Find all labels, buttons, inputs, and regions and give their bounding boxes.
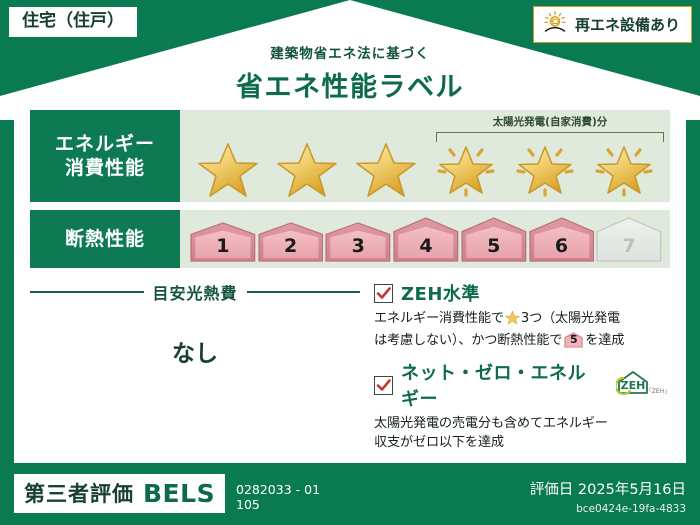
evaluation-id: bce0424e-19fa-4833: [576, 503, 686, 515]
star-6-solar: [585, 138, 664, 198]
zeh-house-logo-icon: ZEH 「ZEH」: [616, 370, 670, 400]
grade-number-5: 5: [461, 235, 527, 257]
sun-icon: [542, 11, 568, 37]
svg-text:「ZEH」: 「ZEH」: [646, 388, 670, 395]
star-rating: [188, 138, 664, 198]
utility-cost-value: なし: [30, 334, 360, 368]
insulation-grade-scale: 1 2: [190, 217, 662, 262]
bels-number: 0282033 - 01 105: [236, 482, 320, 513]
inline-grade-number: 5: [564, 332, 583, 348]
grade-badge-3: 3: [325, 222, 391, 262]
page-title: 建築物省エネ法に基づく 省エネ性能ラベル: [0, 42, 700, 104]
net-zero-desc-b: 収支がゼロ以下を達成: [374, 435, 504, 450]
bels-number-line2: 105: [236, 497, 320, 513]
energy-performance-label: エネルギー 消費性能: [30, 110, 180, 202]
grade-number-1: 1: [190, 235, 256, 257]
energy-performance-body: 太陽光発電(自家消費)分: [180, 110, 670, 202]
inline-star-icon: [505, 310, 520, 332]
zeh-standard-title: ZEH水準: [401, 280, 480, 306]
rule-left: [30, 291, 144, 293]
insulation-label-text: 断熱性能: [65, 227, 145, 251]
bels-plate: 第三者評価 BELS: [14, 474, 225, 513]
net-zero-head: ネット・ゼロ・エネルギー ZEH 「ZEH」: [374, 359, 670, 411]
zeh-desc-part-b: は考慮しない）、かつ断熱性能で: [374, 333, 562, 348]
svg-text:ZEH: ZEH: [621, 379, 646, 392]
zeh-standard-item: ZEH水準 エネルギー消費性能で 3つ（太陽光発電は考慮しない）、かつ断熱性能で…: [374, 280, 670, 350]
grade-badge-1: 1: [190, 222, 256, 262]
star-1: [188, 138, 267, 198]
grade-number-3: 3: [325, 235, 391, 257]
zeh-desc-star-text: 3つ（太陽光発電: [521, 311, 620, 326]
star-2: [267, 138, 346, 198]
insulation-performance-row: 断熱性能: [30, 210, 670, 268]
insulation-performance-body: 1 2: [180, 210, 670, 268]
checkmark-icon: [374, 284, 393, 303]
grade-number-4: 4: [393, 235, 459, 257]
insulation-performance-label: 断熱性能: [30, 210, 180, 268]
criteria-section: ZEH水準 エネルギー消費性能で 3つ（太陽光発電は考慮しない）、かつ断熱性能で…: [360, 276, 670, 455]
rule-right: [247, 291, 361, 293]
utility-cost-heading: 目安光熱費: [30, 280, 360, 304]
net-zero-description: 太陽光発電の売電分も含めてエネルギー収支がゼロ以下を達成: [374, 415, 670, 452]
bels-number-line1: 0282033 - 01: [236, 482, 320, 498]
housing-type-badge: 住宅（住戸）: [8, 6, 138, 38]
energy-label-line2: 消費性能: [65, 156, 145, 180]
zeh-desc-part-c: を達成: [585, 333, 624, 348]
zeh-standard-description: エネルギー消費性能で 3つ（太陽光発電は考慮しない）、かつ断熱性能で 5を達成: [374, 310, 670, 350]
net-zero-energy-item: ネット・ゼロ・エネルギー ZEH 「ZEH」 太陽光発電の売電分も含めてエネルギ…: [374, 359, 670, 452]
page-main-title: 省エネ性能ラベル: [0, 65, 700, 104]
main-card: エネルギー 消費性能 太陽光発電(自家消費)分: [14, 100, 686, 463]
bottom-section: 目安光熱費 なし ZEH水準 エネルギー消費性: [30, 276, 670, 455]
page-subtitle: 建築物省エネ法に基づく: [0, 42, 700, 62]
star-4-solar: [426, 138, 505, 198]
renewable-equipment-label: 再エネ設備あり: [575, 14, 680, 35]
grade-badge-5: 5: [461, 217, 527, 262]
inline-grade-badge: 5: [564, 332, 583, 348]
grade-badge-7: 7: [596, 217, 662, 262]
energy-performance-row: エネルギー 消費性能 太陽光発電(自家消費)分: [30, 110, 670, 202]
evaluation-date: 評価日 2025年5月16日: [530, 478, 686, 499]
zeh-desc-part-a: エネルギー消費性能で: [374, 311, 504, 326]
housing-type-label: 住宅（住戸）: [22, 11, 124, 31]
grade-badge-6: 6: [529, 217, 595, 262]
grade-number-6: 6: [529, 235, 595, 257]
star-3: [347, 138, 426, 198]
renewable-equipment-badge: 再エネ設備あり: [533, 6, 692, 43]
solar-caption: 太陽光発電(自家消費)分: [436, 114, 664, 129]
net-zero-title: ネット・ゼロ・エネルギー: [401, 359, 604, 411]
star-5-solar: [505, 138, 584, 198]
checkmark-icon: [374, 376, 393, 395]
grade-number-2: 2: [258, 235, 324, 257]
grade-number-7: 7: [596, 235, 662, 257]
third-party-eval-label: 第三者評価: [24, 478, 134, 508]
energy-performance-label: 住宅（住戸） 再エネ設備あり 建築: [0, 0, 700, 525]
grade-badge-2: 2: [258, 222, 324, 262]
footer: 第三者評価 BELS 0282033 - 01 105 評価日 2025年5月1…: [0, 463, 700, 525]
utility-cost-section: 目安光熱費 なし: [30, 276, 360, 455]
zeh-standard-head: ZEH水準: [374, 280, 670, 306]
utility-cost-title: 目安光熱費: [153, 280, 238, 304]
energy-label-line1: エネルギー: [55, 132, 155, 156]
net-zero-desc-a: 太陽光発電の売電分も含めてエネルギー: [374, 416, 608, 431]
grade-badge-4: 4: [393, 217, 459, 262]
bels-logo-text: BELS: [143, 479, 215, 508]
